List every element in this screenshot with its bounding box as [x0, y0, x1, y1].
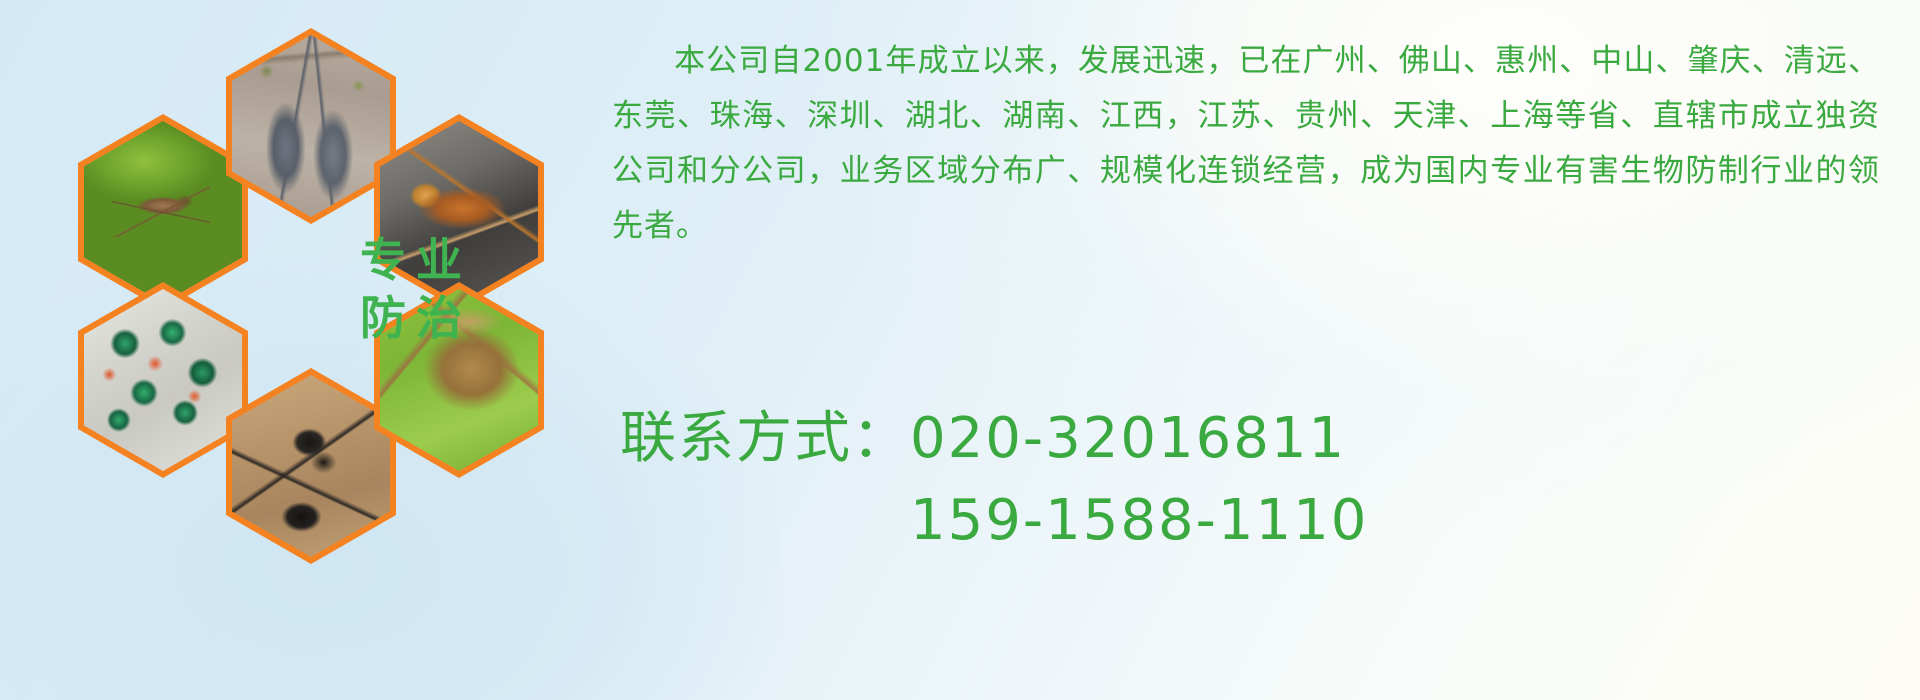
contact-block: 联系方式：020-32016811 159-1588-1110 — [620, 398, 1900, 562]
contact-line-mobile[interactable]: 159-1588-1110 — [620, 480, 1900, 562]
stinkbug-image — [380, 289, 538, 471]
hex-cell-cockroach — [374, 114, 544, 310]
company-description-text: 本公司自2001年成立以来，发展迅速，已在广州、佛山、惠州、中山、肇庆、清远、东… — [612, 43, 1880, 244]
flies-image — [84, 289, 242, 471]
honeycomb-collage: 专业 防治 — [78, 6, 598, 576]
company-description: 本公司自2001年成立以来，发展迅速，已在广州、佛山、惠州、中山、肇庆、清远、东… — [612, 34, 1880, 254]
cockroach-image — [380, 121, 538, 303]
mosquito-image — [84, 121, 242, 303]
ant-image — [232, 375, 390, 557]
promo-banner: 专业 防治 本公司自2001年成立以来，发展迅速，已在广州、佛山、惠州、中山、肇… — [0, 0, 1920, 700]
hex-cell-flies — [78, 282, 248, 478]
hex-cell-mosquito — [78, 114, 248, 310]
hex-cell-stinkbug — [374, 282, 544, 478]
hex-cell-rats — [226, 28, 396, 224]
rats-image — [232, 35, 390, 217]
contact-line-primary[interactable]: 联系方式：020-32016811 — [620, 398, 1900, 480]
hex-cell-ant — [226, 368, 396, 564]
